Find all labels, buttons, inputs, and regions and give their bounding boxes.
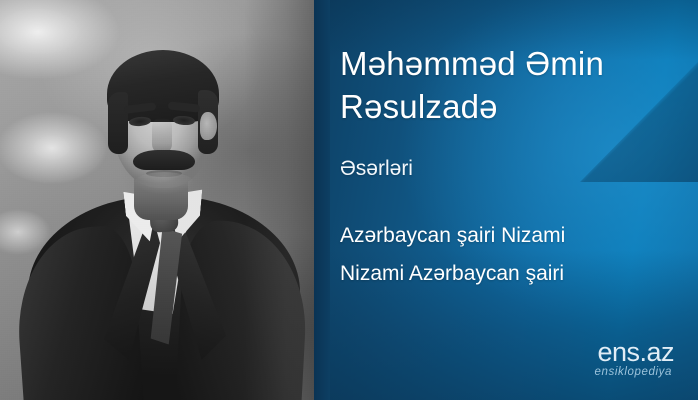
body-line-2: Nizami Azərbaycan şairi <box>340 262 564 286</box>
page-title-line-2: Rəsulzadə <box>340 88 498 126</box>
panel-left-seam <box>314 0 330 400</box>
right-ear-shape <box>200 112 217 140</box>
nose-shape <box>152 118 172 154</box>
blue-text-panel: Məhəmməd Əmin Rəsulzadə Əsərləri Azərbay… <box>314 0 698 400</box>
ens-az-logo[interactable]: ens.az ensiklopediya <box>595 339 675 379</box>
article-banner-card: Məhəmməd Əmin Rəsulzadə Əsərləri Azərbay… <box>0 0 698 400</box>
page-subtitle: Əsərləri <box>340 157 413 181</box>
portrait-photo-panel <box>0 0 314 400</box>
photo-edge-shading <box>244 0 314 400</box>
logo-wordmark: ens.az <box>595 339 675 366</box>
chin-shape <box>134 172 194 194</box>
left-sideburn-shape <box>108 92 128 154</box>
moustache-shape <box>133 150 195 170</box>
logo-tagline: ensiklopediya <box>595 367 673 379</box>
body-line-1: Azərbaycan şairi Nizami <box>340 224 565 248</box>
page-title-line-1: Məhəmməd Əmin <box>340 45 604 83</box>
